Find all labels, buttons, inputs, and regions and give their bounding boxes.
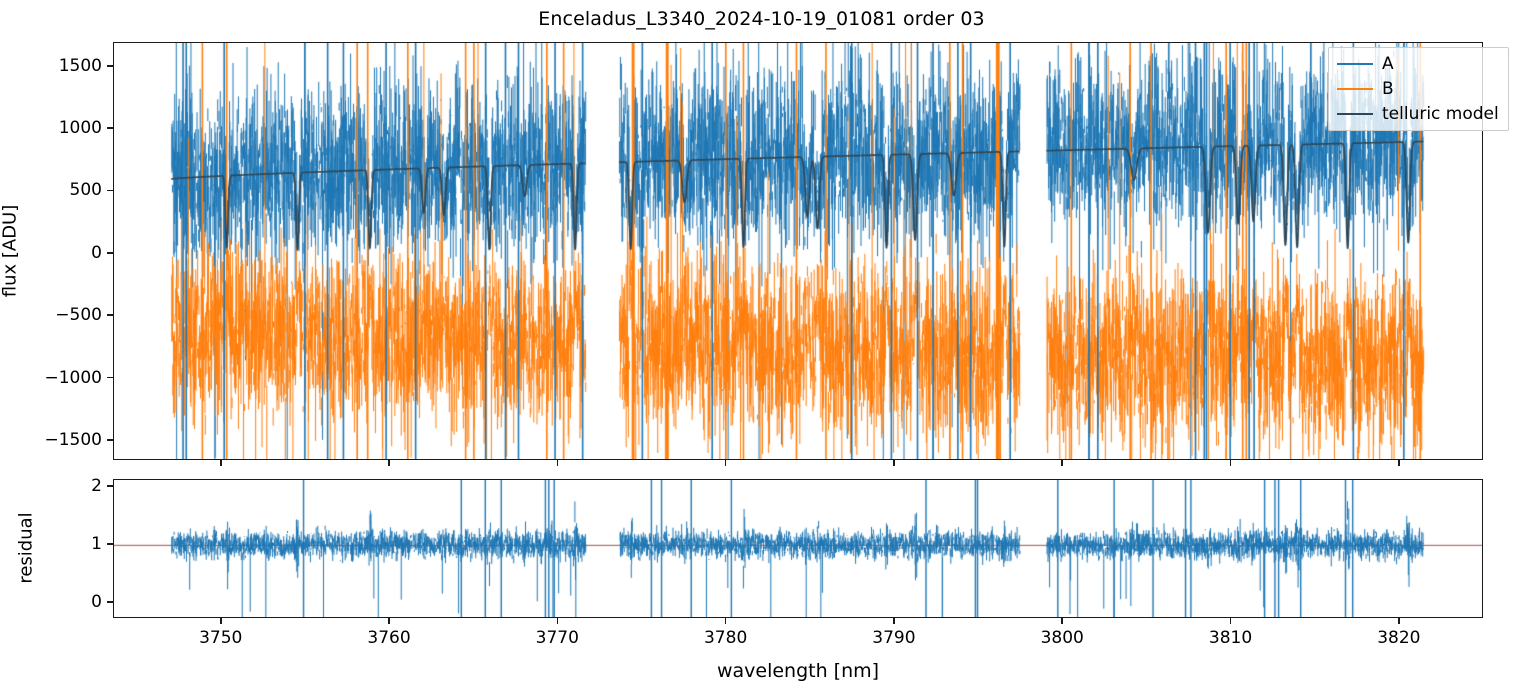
spectrum-figure: Enceladus_L3340_2024-10-19_01081 order 0… — [0, 0, 1523, 696]
legend-line-icon — [1337, 88, 1373, 90]
wavelength-tick-mark — [1061, 618, 1063, 624]
flux-panel-axes — [113, 42, 1483, 460]
residual-axis-label: residual — [16, 512, 37, 583]
residual-y-tick-label: 2 — [91, 476, 102, 496]
wavelength-tick-mark — [1230, 618, 1232, 624]
flux-y-tick-label: −1500 — [44, 430, 102, 450]
wavelength-tick-mark — [388, 460, 390, 466]
residual-y-tick-mark — [107, 601, 113, 603]
legend: ABtelluric model — [1328, 47, 1509, 131]
wavelength-tick-mark — [1398, 618, 1400, 624]
wavelength-tick-mark — [725, 618, 727, 624]
flux-y-tick-mark — [107, 190, 113, 192]
legend-label: telluric model — [1382, 106, 1499, 123]
flux-plot-canvas — [114, 43, 1483, 460]
flux-y-tick-label: −1000 — [44, 368, 102, 388]
wavelength-tick-mark — [1398, 460, 1400, 466]
flux-y-tick-mark — [107, 439, 113, 441]
wavelength-tick-mark — [557, 460, 559, 466]
wavelength-tick-label: 3790 — [872, 628, 915, 648]
wavelength-tick-label: 3810 — [1209, 628, 1252, 648]
wavelength-tick-mark — [1061, 460, 1063, 466]
wavelength-tick-mark — [1230, 460, 1232, 466]
flux-y-tick-mark — [107, 65, 113, 67]
wavelength-tick-label: 3750 — [199, 628, 242, 648]
flux-y-tick-label: 500 — [70, 180, 102, 200]
flux-y-tick-label: 1000 — [59, 118, 102, 138]
wavelength-tick-label: 3820 — [1377, 628, 1420, 648]
flux-axis-label: flux [ADU] — [0, 205, 21, 298]
flux-y-tick-mark — [107, 377, 113, 379]
wavelength-tick-mark — [557, 618, 559, 624]
wavelength-tick-label: 3800 — [1041, 628, 1084, 648]
flux-y-tick-label: 0 — [91, 243, 102, 263]
wavelength-tick-label: 3760 — [367, 628, 410, 648]
wavelength-tick-mark — [725, 460, 727, 466]
residual-y-tick-label: 0 — [91, 592, 102, 612]
flux-y-tick-mark — [107, 314, 113, 316]
residual-plot-canvas — [114, 480, 1483, 618]
residual-y-tick-label: 1 — [91, 534, 102, 554]
legend-label: A — [1382, 56, 1394, 73]
legend-item-telluric-model: telluric model — [1337, 104, 1499, 124]
flux-y-tick-mark — [107, 252, 113, 254]
wavelength-tick-mark — [220, 460, 222, 466]
wavelength-tick-label: 3770 — [536, 628, 579, 648]
wavelength-tick-mark — [893, 618, 895, 624]
wavelength-tick-mark — [388, 618, 390, 624]
legend-label: B — [1382, 81, 1394, 98]
legend-line-icon — [1337, 113, 1373, 115]
wavelength-tick-mark — [220, 618, 222, 624]
page-title: Enceladus_L3340_2024-10-19_01081 order 0… — [0, 8, 1523, 30]
residual-y-tick-mark — [107, 485, 113, 487]
flux-y-tick-label: −500 — [55, 305, 102, 325]
legend-item-a: A — [1337, 54, 1499, 74]
wavelength-tick-mark — [893, 460, 895, 466]
wavelength-axis-label: wavelength [nm] — [717, 660, 879, 682]
legend-item-b: B — [1337, 79, 1499, 99]
residual-y-tick-mark — [107, 543, 113, 545]
flux-y-tick-label: 1500 — [59, 56, 102, 76]
legend-line-icon — [1337, 63, 1373, 65]
residual-panel-axes — [113, 479, 1483, 618]
wavelength-tick-label: 3780 — [704, 628, 747, 648]
flux-y-tick-mark — [107, 127, 113, 129]
